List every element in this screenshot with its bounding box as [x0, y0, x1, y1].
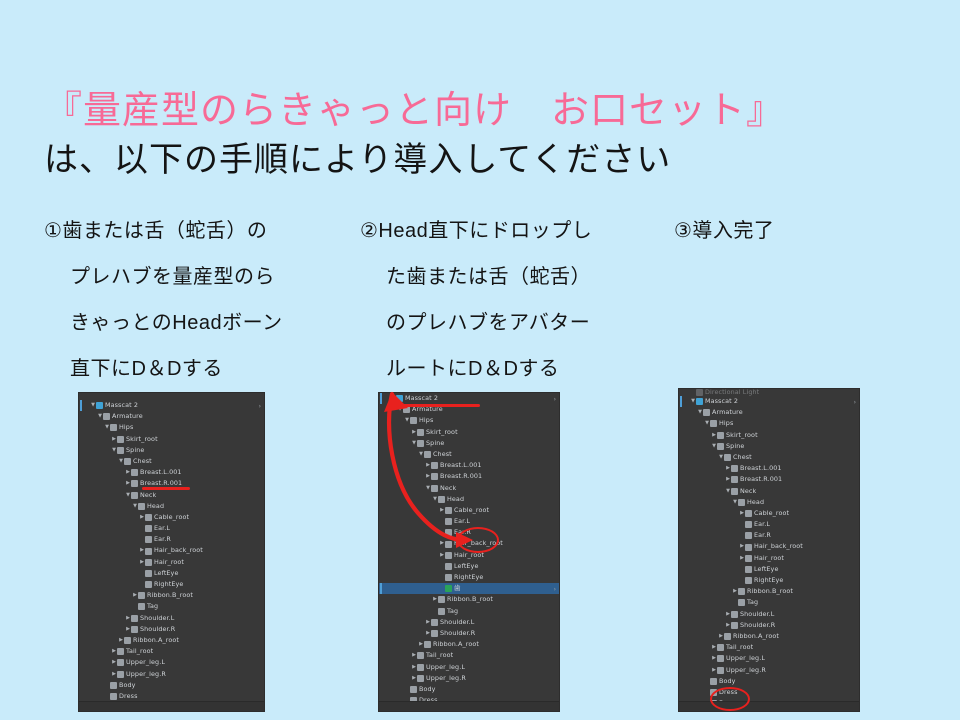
cube-icon	[724, 633, 731, 640]
hierarchy-row-label: Hair_root	[754, 553, 784, 564]
hierarchy-row-label: Breast.R.001	[740, 474, 782, 485]
cube-icon	[445, 574, 452, 581]
blue-cube-icon	[96, 402, 103, 409]
hierarchy-row-label: Body	[419, 684, 436, 695]
cube-icon	[431, 485, 438, 492]
panel-3-bottom-bar	[679, 701, 859, 711]
hierarchy-row-label: Upper_leg.L	[726, 653, 765, 664]
cube-icon	[145, 514, 152, 521]
hierarchy-row[interactable]: ▶Cable_root	[379, 505, 559, 516]
step-3: ③導入完了	[674, 208, 924, 254]
cube-icon	[431, 619, 438, 626]
hierarchy-row-label: Chest	[133, 456, 152, 467]
hierarchy-panel-3[interactable]: Directional Light▼Masscat 2›▼Armature▼Hi…	[678, 388, 860, 712]
selection-caret	[80, 400, 82, 411]
hierarchy-row[interactable]	[79, 393, 264, 400]
hierarchy-row-label: Cable_root	[754, 508, 789, 519]
step-1-line-4: 直下にD＆Dする	[44, 346, 344, 392]
hierarchy-row-label: Skirt_root	[126, 434, 158, 445]
hierarchy-row[interactable]: Ear.L	[379, 516, 559, 527]
annotation-underline-root-panel-2	[400, 404, 480, 407]
cube-icon	[710, 711, 717, 712]
hierarchy-row[interactable]: LeftEye	[379, 561, 559, 572]
hierarchy-row[interactable]: Dress	[679, 687, 859, 698]
cube-icon	[745, 532, 752, 539]
hierarchy-row-label: Ribbon.A_root	[733, 631, 779, 642]
hierarchy-row-label: Tail_root	[726, 642, 753, 653]
hierarchy-row-label: Spine	[126, 445, 144, 456]
hierarchy-row[interactable]: ▶Shoulder.L	[679, 609, 859, 620]
cube-icon	[145, 536, 152, 543]
hierarchy-row[interactable]: ▶Hair_back_root	[79, 545, 264, 556]
step-1-line-2: プレハブを量産型のら	[44, 254, 344, 300]
hierarchy-row-label: Shoulder.R	[740, 620, 775, 631]
hierarchy-row-label: Ear.L	[454, 516, 470, 527]
cube-icon	[145, 581, 152, 588]
panel-2-bottom-bar	[379, 701, 559, 711]
cube-icon	[738, 599, 745, 606]
hierarchy-row-label: Tag	[447, 606, 458, 617]
cube-icon	[745, 544, 752, 551]
cube-icon	[117, 447, 124, 454]
hierarchy-row[interactable]: Directional Light	[679, 389, 859, 396]
step-2: ②Head直下にドロップし た歯または舌（蛇舌） のプレハブをアバター ルートに…	[360, 208, 660, 392]
page-title-line1: 『量産型のらきゃっと向け お口セット』	[44, 88, 924, 134]
hierarchy-row-label: Body	[719, 676, 736, 687]
hierarchy-row[interactable]: ▶Shoulder.L	[79, 613, 264, 624]
cube-icon	[138, 503, 145, 510]
hierarchy-row[interactable]: ▶Breast.L.001	[679, 463, 859, 474]
hierarchy-row-label: Cable_root	[454, 505, 489, 516]
hierarchy-row[interactable]: Ear.R	[679, 530, 859, 541]
hierarchy-row[interactable]: ▶Tail_root	[379, 650, 559, 661]
hierarchy-row[interactable]: Body	[679, 676, 859, 687]
hierarchy-row-label: Shoulder.L	[440, 617, 474, 628]
cube-icon	[745, 510, 752, 517]
cube-icon	[117, 436, 124, 443]
cube-icon	[445, 529, 452, 536]
hierarchy-row-label: Breast.R.001	[440, 471, 482, 482]
hierarchy-row[interactable]: ▶Hair_root	[79, 557, 264, 568]
hierarchy-row[interactable]: ▼Hips	[679, 418, 859, 429]
hierarchy-row-label: LeftEye	[454, 561, 478, 572]
hierarchy-row[interactable]: ▶Ribbon.A_root	[79, 635, 264, 646]
hierarchy-row-label: Breast.L.001	[440, 460, 482, 471]
hierarchy-row-label: Hair_back_root	[754, 541, 803, 552]
hierarchy-row[interactable]: Ear.L	[679, 519, 859, 530]
cube-icon	[410, 686, 417, 693]
hierarchy-row-label: Upper_leg.R	[426, 673, 466, 684]
hierarchy-row-label: Ribbon.B_root	[747, 586, 793, 597]
hierarchy-row-label: Breast.L.001	[140, 467, 182, 478]
hierarchy-row[interactable]: ▶Upper_leg.R	[379, 673, 559, 684]
cube-icon	[110, 682, 117, 689]
cube-icon	[703, 409, 710, 416]
step-2-line-2: た歯または舌（蛇舌）	[360, 254, 660, 300]
hierarchy-row[interactable]: ▶Skirt_root	[379, 427, 559, 438]
cube-icon	[424, 641, 431, 648]
hierarchy-row[interactable]: ▼Neck	[79, 490, 264, 501]
hierarchy-row[interactable]: ▶Skirt_root	[679, 430, 859, 441]
hierarchy-row-label: Hips	[119, 422, 133, 433]
hierarchy-row-label: Ribbon.B_root	[447, 594, 493, 605]
cube-icon	[403, 406, 410, 413]
hierarchy-row[interactable]: ▼Hips	[79, 422, 264, 433]
selection-caret	[680, 396, 682, 407]
cube-icon	[745, 555, 752, 562]
hierarchy-row[interactable]: ▼Head	[679, 497, 859, 508]
hierarchy-row-label: Cable_root	[154, 512, 189, 523]
cube-icon	[431, 462, 438, 469]
hierarchy-row[interactable]: ▶Shoulder.R	[79, 624, 264, 635]
hierarchy-row-label: 歯	[454, 583, 461, 594]
cube-icon	[745, 521, 752, 528]
step-3-line-1: ③導入完了	[674, 208, 924, 254]
hierarchy-row-label: Shoulder.L	[140, 613, 174, 624]
step-2-line-4: ルートにD＆Dする	[360, 346, 660, 392]
hierarchy-row[interactable]: ▼Spine	[379, 438, 559, 449]
cube-icon	[124, 458, 131, 465]
hierarchy-row[interactable]: ▶Upper_leg.L	[679, 653, 859, 664]
cube-icon	[431, 630, 438, 637]
step-1-line-3: きゃっとのHeadボーン	[44, 300, 344, 346]
hierarchy-row[interactable]: ▶Ribbon.B_root	[79, 590, 264, 601]
hierarchy-row-label: Upper_leg.R	[726, 665, 766, 676]
hierarchy-row-label: Masscat 2	[405, 393, 438, 404]
cube-icon	[417, 675, 424, 682]
cube-icon	[445, 552, 452, 559]
blue-cube-icon	[396, 395, 403, 402]
hierarchy-row-label: Armature	[112, 411, 143, 422]
hierarchy-row-label: Ribbon.B_root	[147, 590, 193, 601]
cube-icon	[445, 563, 452, 570]
cube-icon	[131, 615, 138, 622]
hierarchy-row[interactable]: Tag	[679, 597, 859, 608]
annotation-circle-prefab-panel-2	[457, 527, 499, 553]
cube-icon	[745, 577, 752, 584]
hierarchy-row[interactable]: ▶Breast.R.001	[379, 471, 559, 482]
hierarchy-row-label: Spine	[726, 441, 744, 452]
hierarchy-row[interactable]: Ear.L	[79, 523, 264, 534]
hierarchy-row[interactable]: Ear.R	[79, 534, 264, 545]
hierarchy-row[interactable]: Body	[79, 680, 264, 691]
selection-caret	[380, 393, 382, 404]
hierarchy-row-label: Chest	[733, 452, 752, 463]
cube-icon	[738, 588, 745, 595]
cube-icon	[145, 559, 152, 566]
hierarchy-row[interactable]: ▼Chest	[79, 456, 264, 467]
cube-icon	[731, 622, 738, 629]
hierarchy-row[interactable]: ▶Tail_root	[679, 642, 859, 653]
hierarchy-row-label: Skirt_root	[426, 427, 458, 438]
cube-icon	[131, 469, 138, 476]
cube-icon	[410, 417, 417, 424]
hierarchy-row-label: Upper_leg.R	[126, 669, 166, 680]
hierarchy-row[interactable]: ▶Ribbon.B_root	[679, 586, 859, 597]
cube-icon	[124, 637, 131, 644]
hierarchy-row-label: Hair_root	[154, 557, 184, 568]
cube-icon	[417, 429, 424, 436]
hierarchy-row-label: Masscat 2	[705, 396, 738, 407]
hierarchy-row-label: Armature	[712, 407, 743, 418]
cube-icon	[145, 525, 152, 532]
cube-icon	[117, 659, 124, 666]
cube-icon	[738, 499, 745, 506]
hierarchy-row[interactable]: ▼Armature	[79, 411, 264, 422]
hierarchy-row[interactable]: ▶Cable_root	[79, 512, 264, 523]
hierarchy-row[interactable]: ▶Cable_root	[679, 508, 859, 519]
blue-cube-icon	[696, 398, 703, 405]
hierarchy-row[interactable]: ▶Shoulder.L	[379, 617, 559, 628]
hierarchy-row[interactable]: ▶Tail_root	[79, 646, 264, 657]
hierarchy-row-label: Ear.R	[154, 534, 171, 545]
hierarchy-tree-1[interactable]: ▼Masscat 2›▼Armature▼Hips▶Skirt_root▼Spi…	[79, 393, 264, 711]
hierarchy-row-label: RightEye	[154, 579, 183, 590]
hierarchy-row[interactable]: ▼Head	[379, 494, 559, 505]
hierarchy-row-label: Hair_back_root	[154, 545, 203, 556]
cube-icon	[117, 648, 124, 655]
hierarchy-row-label: Head	[747, 497, 764, 508]
cube-icon	[445, 518, 452, 525]
cube-icon	[117, 671, 124, 678]
cube-icon	[145, 570, 152, 577]
hierarchy-row[interactable]: RightEye	[379, 572, 559, 583]
step-1-line-1: ①歯または舌（蛇舌）の	[44, 208, 344, 254]
steps-container: ①歯または舌（蛇舌）の プレハブを量産型のら きゃっとのHeadボーン 直下にD…	[44, 208, 924, 383]
title-block: 『量産型のらきゃっと向け お口セット』 は、以下の手順により導入してください	[44, 88, 924, 182]
cube-icon	[445, 541, 452, 548]
hierarchy-row-label: Upper_leg.L	[426, 662, 465, 673]
hierarchy-row[interactable]: RightEye	[79, 579, 264, 590]
hierarchy-row-label: Upper_leg.L	[126, 657, 165, 668]
hierarchy-row-label: LeftEye	[754, 564, 778, 575]
hierarchy-row[interactable]: Tag	[379, 606, 559, 617]
hierarchy-row-label: Shoulder.L	[740, 609, 774, 620]
cube-icon	[731, 488, 738, 495]
cube-icon	[417, 652, 424, 659]
hierarchy-row[interactable]: ▼Neck	[379, 483, 559, 494]
cube-icon	[717, 667, 724, 674]
hierarchy-row-label: Tag	[747, 597, 758, 608]
cube-icon	[145, 548, 152, 555]
hierarchy-row[interactable]: ▶Breast.L.001	[379, 460, 559, 471]
hierarchy-row[interactable]: Tag	[79, 601, 264, 612]
hierarchy-row[interactable]: ▶Upper_leg.R	[679, 665, 859, 676]
hierarchy-row-label: Ribbon.A_root	[433, 639, 479, 650]
cube-icon	[724, 454, 731, 461]
hierarchy-row[interactable]: ▼Masscat 2›	[379, 393, 559, 404]
hierarchy-row[interactable]: ▶Ribbon.A_root	[679, 631, 859, 642]
hierarchy-row-label: Tail_root	[126, 646, 153, 657]
hierarchy-row-label: Body	[119, 680, 136, 691]
hierarchy-row-label: LeftEye	[154, 568, 178, 579]
cube-icon	[710, 678, 717, 685]
hierarchy-row[interactable]: ▼Spine	[79, 445, 264, 456]
hierarchy-row-label: Head	[147, 501, 164, 512]
hierarchy-row[interactable]: ▶Ribbon.B_root	[379, 594, 559, 605]
cube-icon	[717, 644, 724, 651]
hierarchy-row-label: Ear.R	[754, 530, 771, 541]
hierarchy-row[interactable]: Body	[379, 684, 559, 695]
hierarchy-row-label: Masscat 2	[105, 400, 138, 411]
hierarchy-row[interactable]: ▶Ribbon.A_root	[379, 639, 559, 650]
step-2-line-1: ②Head直下にドロップし	[360, 208, 660, 254]
hierarchy-row[interactable]: ▼Armature	[679, 407, 859, 418]
cube-icon	[131, 480, 138, 487]
cube-icon	[431, 473, 438, 480]
hierarchy-row[interactable]: LeftEye	[79, 568, 264, 579]
hierarchy-row[interactable]: ▶Upper_leg.L	[79, 657, 264, 668]
page-title-line2: は、以下の手順により導入してください	[44, 138, 924, 182]
step-1: ①歯または舌（蛇舌）の プレハブを量産型のら きゃっとのHeadボーン 直下にD…	[44, 208, 344, 392]
cube-icon	[745, 566, 752, 573]
cube-icon	[731, 611, 738, 618]
annotation-underline-head-panel-1	[142, 487, 190, 490]
panel-1-bottom-bar	[79, 701, 264, 711]
hierarchy-row-label: Spine	[426, 438, 444, 449]
cube-icon	[696, 389, 703, 396]
cube-icon	[438, 608, 445, 615]
hierarchy-row[interactable]: ▶Hair_root	[679, 553, 859, 564]
hierarchy-row-label: Neck	[440, 483, 456, 494]
green-cube-icon	[445, 585, 452, 592]
cube-icon	[717, 432, 724, 439]
hierarchy-row-label: Breast.L.001	[740, 463, 782, 474]
hierarchy-row[interactable]: LeftEye	[679, 564, 859, 575]
hierarchy-row-label: Chest	[433, 449, 452, 460]
hierarchy-row-label: Hips	[419, 415, 433, 426]
hierarchy-row[interactable]: ▼Masscat 2›	[679, 396, 859, 407]
selection-caret	[380, 583, 382, 594]
cube-icon	[138, 592, 145, 599]
hierarchy-tree-3[interactable]: Directional Light▼Masscat 2›▼Armature▼Hi…	[679, 389, 859, 711]
hierarchy-panel-1[interactable]: ▼Masscat 2›▼Armature▼Hips▶Skirt_root▼Spi…	[78, 392, 265, 712]
hierarchy-row[interactable]: ▶Skirt_root	[79, 434, 264, 445]
cube-icon	[731, 465, 738, 472]
cube-icon	[131, 626, 138, 633]
hierarchy-row-label: Shoulder.R	[440, 628, 475, 639]
cube-icon	[103, 413, 110, 420]
annotation-circle-prefab-panel-3	[710, 687, 750, 711]
hierarchy-row[interactable]: 歯›	[379, 583, 559, 594]
hierarchy-row[interactable]: ▼Neck	[679, 486, 859, 497]
hierarchy-row-label: Neck	[140, 490, 156, 501]
cube-icon	[438, 596, 445, 603]
hierarchy-row-label: Hips	[719, 418, 733, 429]
hierarchy-row[interactable]: ▶Hair_back_root	[679, 541, 859, 552]
hierarchy-row-label: Shoulder.R	[140, 624, 175, 635]
hierarchy-row-label: Neck	[740, 486, 756, 497]
hierarchy-row[interactable]: ▶Upper_leg.L	[379, 662, 559, 673]
cube-icon	[438, 496, 445, 503]
cube-icon	[424, 451, 431, 458]
slide-canvas: 『量産型のらきゃっと向け お口セット』 は、以下の手順により導入してください ①…	[0, 0, 960, 720]
hierarchy-row[interactable]: ▶Shoulder.R	[679, 620, 859, 631]
hierarchy-row[interactable]: ▼Masscat 2›	[79, 400, 264, 411]
cube-icon	[731, 476, 738, 483]
hierarchy-row-label: Ribbon.A_root	[133, 635, 179, 646]
hierarchy-row-label: Head	[447, 494, 464, 505]
hierarchy-row[interactable]: ▶Shoulder.R	[379, 628, 559, 639]
cube-icon	[138, 603, 145, 610]
hierarchy-row[interactable]: ▼Hips	[379, 415, 559, 426]
hierarchy-row-label: Tag	[147, 601, 158, 612]
cube-icon	[417, 664, 424, 671]
hierarchy-row[interactable]: ▼Spine	[679, 441, 859, 452]
hierarchy-row-label: RightEye	[454, 572, 483, 583]
cube-icon	[417, 440, 424, 447]
cube-icon	[110, 693, 117, 700]
hierarchy-row-label: Tail_root	[426, 650, 453, 661]
hierarchy-row-label: Skirt_root	[726, 430, 758, 441]
cube-icon	[131, 492, 138, 499]
cube-icon	[445, 507, 452, 514]
hierarchy-row[interactable]: ▼Chest	[379, 449, 559, 460]
cube-icon	[717, 655, 724, 662]
hierarchy-row[interactable]: RightEye	[679, 575, 859, 586]
hierarchy-row-label: Ear.L	[154, 523, 170, 534]
step-2-line-3: のプレハブをアバター	[360, 300, 660, 346]
hierarchy-row[interactable]: ▶Breast.L.001	[79, 467, 264, 478]
cube-icon	[110, 424, 117, 431]
hierarchy-row[interactable]: ▶Upper_leg.R	[79, 669, 264, 680]
hierarchy-row[interactable]: ▼Head	[79, 501, 264, 512]
cube-icon	[717, 443, 724, 450]
hierarchy-row[interactable]: ▶Breast.R.001	[679, 474, 859, 485]
hierarchy-row[interactable]: ▼Chest	[679, 452, 859, 463]
cube-icon	[710, 420, 717, 427]
hierarchy-row-label: Ear.L	[754, 519, 770, 530]
hierarchy-row-label: RightEye	[754, 575, 783, 586]
